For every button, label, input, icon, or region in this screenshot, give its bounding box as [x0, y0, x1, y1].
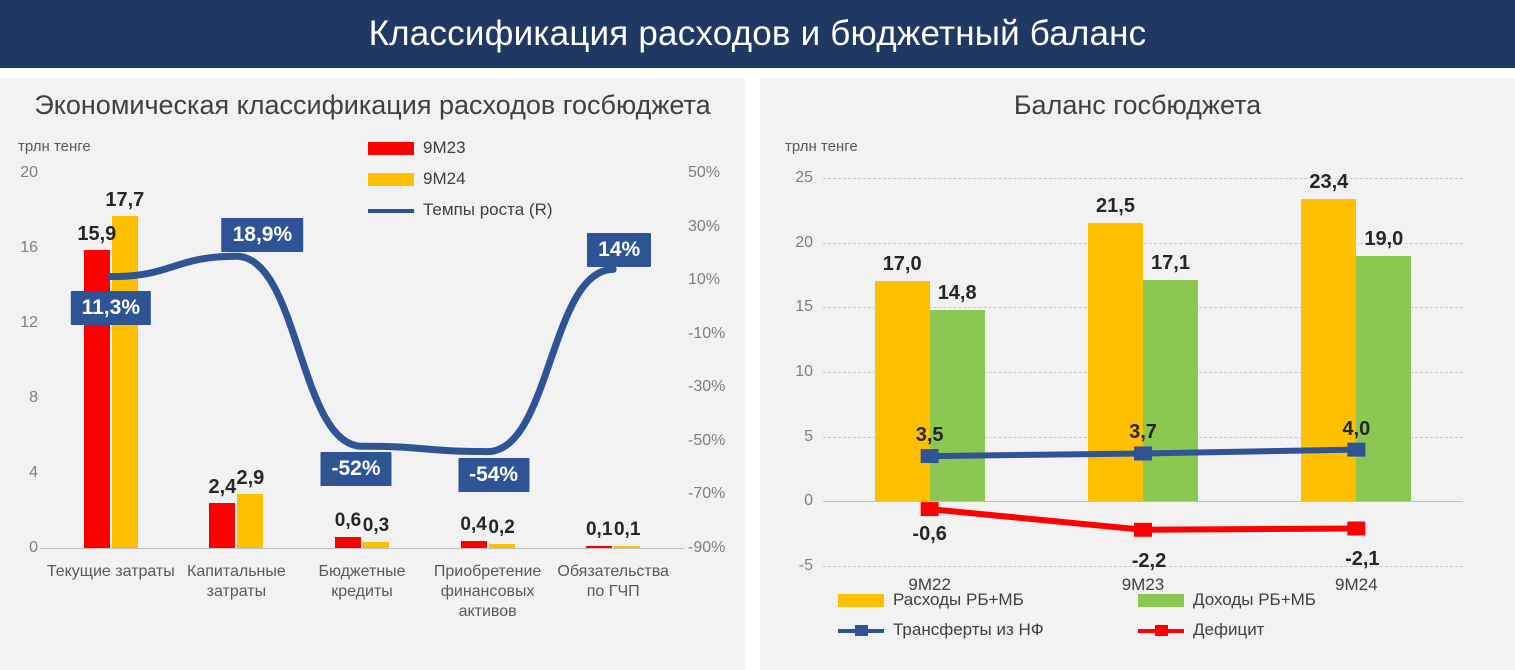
left-y2-axis-tick: -30%: [688, 378, 742, 396]
left-y2-axis-tick: 50%: [688, 164, 742, 182]
legend-label-revenues: Доходы РБ+МБ: [1193, 590, 1316, 610]
deficit-value-label: -2,2: [1132, 550, 1166, 573]
right-chart-title: Баланс госбюджета: [760, 90, 1515, 121]
legend-line-icon-deficit: [1138, 624, 1184, 637]
legend-line-icon-transfers: [838, 624, 884, 637]
transfers-value-label: 3,5: [916, 424, 944, 447]
legend-label-transfers: Трансферты из НФ: [893, 620, 1044, 640]
right-y-axis-tick: 5: [781, 428, 813, 446]
legend-label-expenditures: Расходы РБ+МБ: [893, 590, 1024, 610]
page-title: Классификация расходов и бюджетный балан…: [369, 14, 1147, 54]
left-y2-axis-tick: -90%: [688, 539, 742, 557]
header-bar: Классификация расходов и бюджетный балан…: [0, 0, 1515, 68]
left-y2-axis-tick: -70%: [688, 485, 742, 503]
left-axis-unit: трлн тенге: [18, 138, 91, 155]
left-chart-panel: Экономическая классификация расходов гос…: [0, 78, 745, 670]
right-y-axis-tick: 0: [781, 492, 813, 510]
deficit-line-marker: [921, 502, 939, 516]
growth-rate-line: [48, 173, 676, 548]
left-category-label: Бюджетныекредиты: [289, 562, 435, 602]
right-chart-legend: Расходы РБ+МБ Доходы РБ+МБ Трансферты из…: [838, 590, 1458, 650]
left-y2-axis-tick: 30%: [688, 218, 742, 236]
transfers-line-marker: [1134, 446, 1152, 460]
left-y2-axis-tick: -10%: [688, 325, 742, 343]
transfers-line-marker: [921, 449, 939, 463]
left-y-axis-tick: 12: [8, 314, 38, 332]
legend-label-9m23: 9M23: [423, 138, 466, 158]
legend-item-expenditures: Расходы РБ+МБ: [838, 590, 1138, 610]
left-y-axis-tick: 20: [8, 164, 38, 182]
left-y-axis-tick: 0: [8, 539, 38, 557]
legend-item-deficit: Дефицит: [1138, 620, 1438, 640]
transfers-value-label: 3,7: [1129, 421, 1157, 444]
deficit-value-label: -0,6: [912, 523, 946, 546]
left-y-axis-tick: 4: [8, 464, 38, 482]
left-y-axis-tick: 8: [8, 389, 38, 407]
legend-item-transfers: Трансферты из НФ: [838, 620, 1138, 640]
growth-rate-callout: 18,9%: [222, 218, 304, 252]
deficit-line-marker: [1347, 521, 1365, 535]
growth-rate-callout: 14%: [587, 233, 651, 267]
left-category-label: Текущие затраты: [38, 562, 184, 582]
legend-item-9m23: 9M23: [368, 138, 553, 158]
left-zero-baseline: [40, 548, 684, 549]
right-y-axis-tick: 20: [781, 234, 813, 252]
transfers-line-marker: [1347, 443, 1365, 457]
legend-swatch-icon-expenditures: [838, 594, 884, 607]
left-plot-area: 048121620-90%-70%-50%-30%-10%10%30%50%15…: [48, 173, 676, 548]
right-chart-panel: Баланс госбюджета трлн тенге -5051015202…: [760, 78, 1515, 670]
right-y-axis-tick: 25: [781, 169, 813, 187]
left-y-axis-tick: 16: [8, 239, 38, 257]
right-axis-unit: трлн тенге: [785, 138, 858, 155]
right-y-axis-tick: 10: [781, 363, 813, 381]
infographic-page: Классификация расходов и бюджетный балан…: [0, 0, 1515, 670]
growth-rate-callout: -54%: [458, 458, 529, 492]
left-category-label: Обязательствапо ГЧП: [540, 562, 686, 602]
left-category-label: Приобретениефинансовыхактивов: [415, 562, 561, 622]
right-y-axis-tick: -5: [781, 557, 813, 575]
legend-swatch-icon-revenues: [1138, 594, 1184, 607]
legend-label-deficit: Дефицит: [1193, 620, 1264, 640]
right-y-axis-tick: 15: [781, 298, 813, 316]
growth-rate-callout: 11,3%: [71, 291, 151, 325]
legend-item-revenues: Доходы РБ+МБ: [1138, 590, 1438, 610]
transfers-value-label: 4,0: [1342, 418, 1370, 441]
right-plot-area: -5051015202517,014,89M2221,517,19M2323,4…: [823, 178, 1463, 566]
legend-swatch-icon-9m23: [368, 142, 414, 155]
deficit-line-marker: [1134, 523, 1152, 537]
left-category-label: Капитальныезатраты: [164, 562, 310, 602]
growth-rate-callout: -52%: [320, 452, 391, 486]
left-y2-axis-tick: -50%: [688, 432, 742, 450]
left-y2-axis-tick: 10%: [688, 271, 742, 289]
left-chart-title: Экономическая классификация расходов гос…: [0, 90, 745, 121]
right-chart-lines: [823, 178, 1463, 566]
deficit-value-label: -2,1: [1345, 548, 1379, 571]
